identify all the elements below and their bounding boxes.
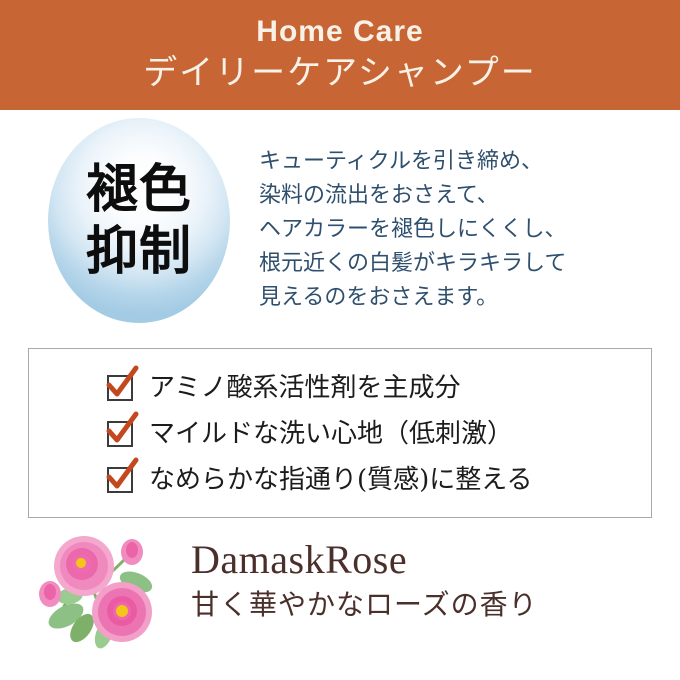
feature-row: なめらかな指通り(質感)に整える xyxy=(29,457,651,503)
checkmark-icon xyxy=(107,375,133,401)
feature-row: マイルドな洗い心地（低刺激） xyxy=(29,411,651,457)
feature-label: マイルドな洗い心地（低刺激） xyxy=(149,419,513,449)
badge-line-1: 褪色 xyxy=(86,159,192,221)
product-feature-panel: Home Care デイリーケアシャンプー 褪色 抑制 キューティクルを引き締め… xyxy=(0,0,680,680)
feature-checklist-box: アミノ酸系活性剤を主成分 マイルドな洗い心地（低刺激） なめらかな指通り(質感)… xyxy=(28,348,652,518)
checkmark-icon xyxy=(107,421,133,447)
fragrance-text-group: DamaskRose 甘く華やかなローズの香り xyxy=(191,536,538,626)
lead-line: キューティクルを引き締め、 xyxy=(259,145,659,179)
header-english-title: Home Care xyxy=(0,14,680,50)
lead-line: 染料の流出をおさえて、 xyxy=(259,179,659,213)
feature-label: なめらかな指通り(質感)に整える xyxy=(149,465,533,495)
badge-line-2: 抑制 xyxy=(86,221,192,283)
rose-illustration-icon xyxy=(36,530,166,650)
lead-line: 見えるのをおさえます。 xyxy=(259,281,659,315)
feature-row: アミノ酸系活性剤を主成分 xyxy=(29,365,651,411)
fragrance-brand-name: DamaskRose xyxy=(191,536,538,584)
feature-label: アミノ酸系活性剤を主成分 xyxy=(149,373,460,403)
header-japanese-title: デイリーケアシャンプー xyxy=(0,50,680,96)
lead-paragraph: キューティクルを引き締め、 染料の流出をおさえて、 ヘアカラーを褪色しにくくし、… xyxy=(259,145,659,315)
fragrance-section: DamaskRose 甘く華やかなローズの香り xyxy=(36,530,646,655)
lead-line: 根元近くの白髪がキラキラして xyxy=(259,247,659,281)
lead-line: ヘアカラーを褪色しにくくし、 xyxy=(259,213,659,247)
checkmark-icon xyxy=(107,467,133,493)
fragrance-description: 甘く華やかなローズの香り xyxy=(191,584,538,626)
header-band: Home Care デイリーケアシャンプー xyxy=(0,0,680,110)
fade-suppression-badge: 褪色 抑制 xyxy=(48,118,230,323)
